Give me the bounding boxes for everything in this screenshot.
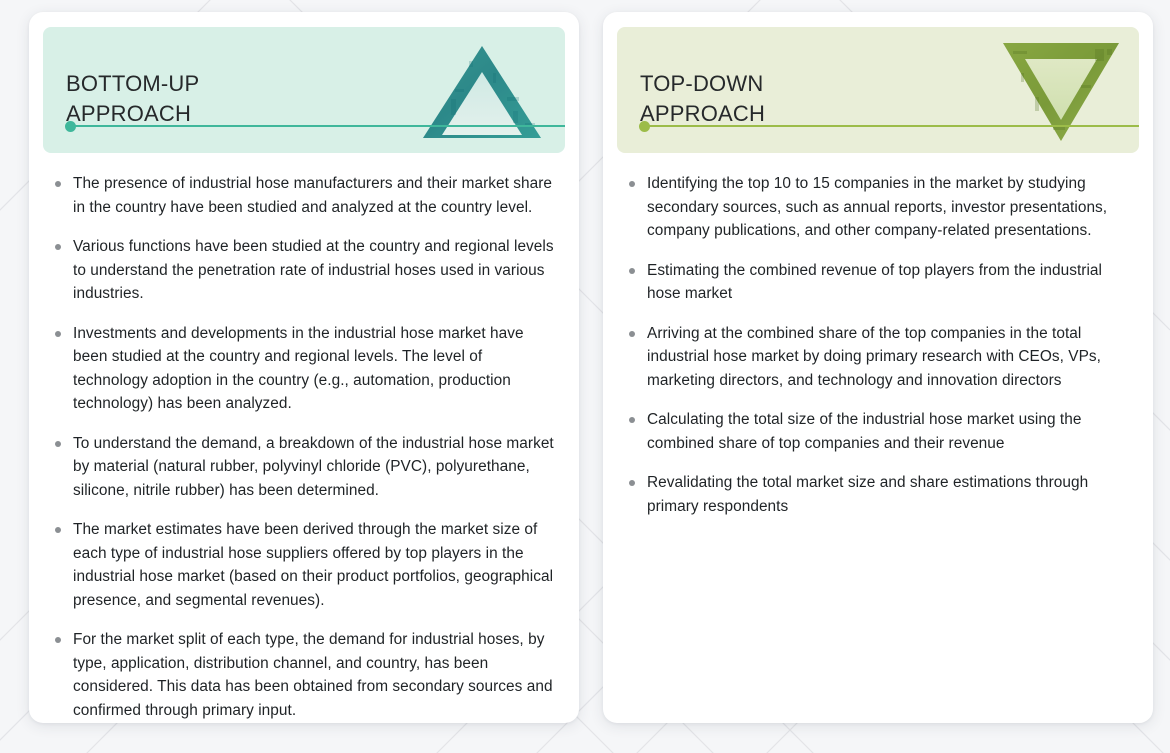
top-down-approach-card: TOP-DOWN APPROACH Identifying the top 10… xyxy=(603,12,1153,723)
top-down-title: TOP-DOWN APPROACH xyxy=(640,69,765,129)
bottom-up-title: BOTTOM-UP APPROACH xyxy=(66,69,199,129)
top-down-card-header: TOP-DOWN APPROACH xyxy=(617,27,1139,153)
bottom-up-card-body: The presence of industrial hose manufact… xyxy=(29,153,579,723)
triangle-down-icon xyxy=(995,27,1127,153)
bottom-up-card-header: BOTTOM-UP APPROACH xyxy=(43,27,565,153)
list-item: For the market split of each type, the d… xyxy=(43,628,559,722)
list-item: Arriving at the combined share of the to… xyxy=(617,322,1133,393)
approach-board: BOTTOM-UP APPROACH The presence of indus… xyxy=(0,0,1170,753)
list-item: Various functions have been studied at t… xyxy=(43,235,559,306)
bottom-up-approach-card: BOTTOM-UP APPROACH The presence of indus… xyxy=(29,12,579,723)
bottom-up-bullet-list: The presence of industrial hose manufact… xyxy=(43,172,559,722)
list-item: To understand the demand, a breakdown of… xyxy=(43,432,559,503)
list-item: Revalidating the total market size and s… xyxy=(617,471,1133,518)
list-item: The market estimates have been derived t… xyxy=(43,518,559,612)
list-item: Identifying the top 10 to 15 companies i… xyxy=(617,172,1133,243)
list-item: Estimating the combined revenue of top p… xyxy=(617,259,1133,306)
triangle-up-icon xyxy=(421,27,543,153)
top-down-bullet-list: Identifying the top 10 to 15 companies i… xyxy=(617,172,1133,518)
list-item: Calculating the total size of the indust… xyxy=(617,408,1133,455)
list-item: The presence of industrial hose manufact… xyxy=(43,172,559,219)
top-down-card-body: Identifying the top 10 to 15 companies i… xyxy=(603,153,1153,723)
list-item: Investments and developments in the indu… xyxy=(43,322,559,416)
